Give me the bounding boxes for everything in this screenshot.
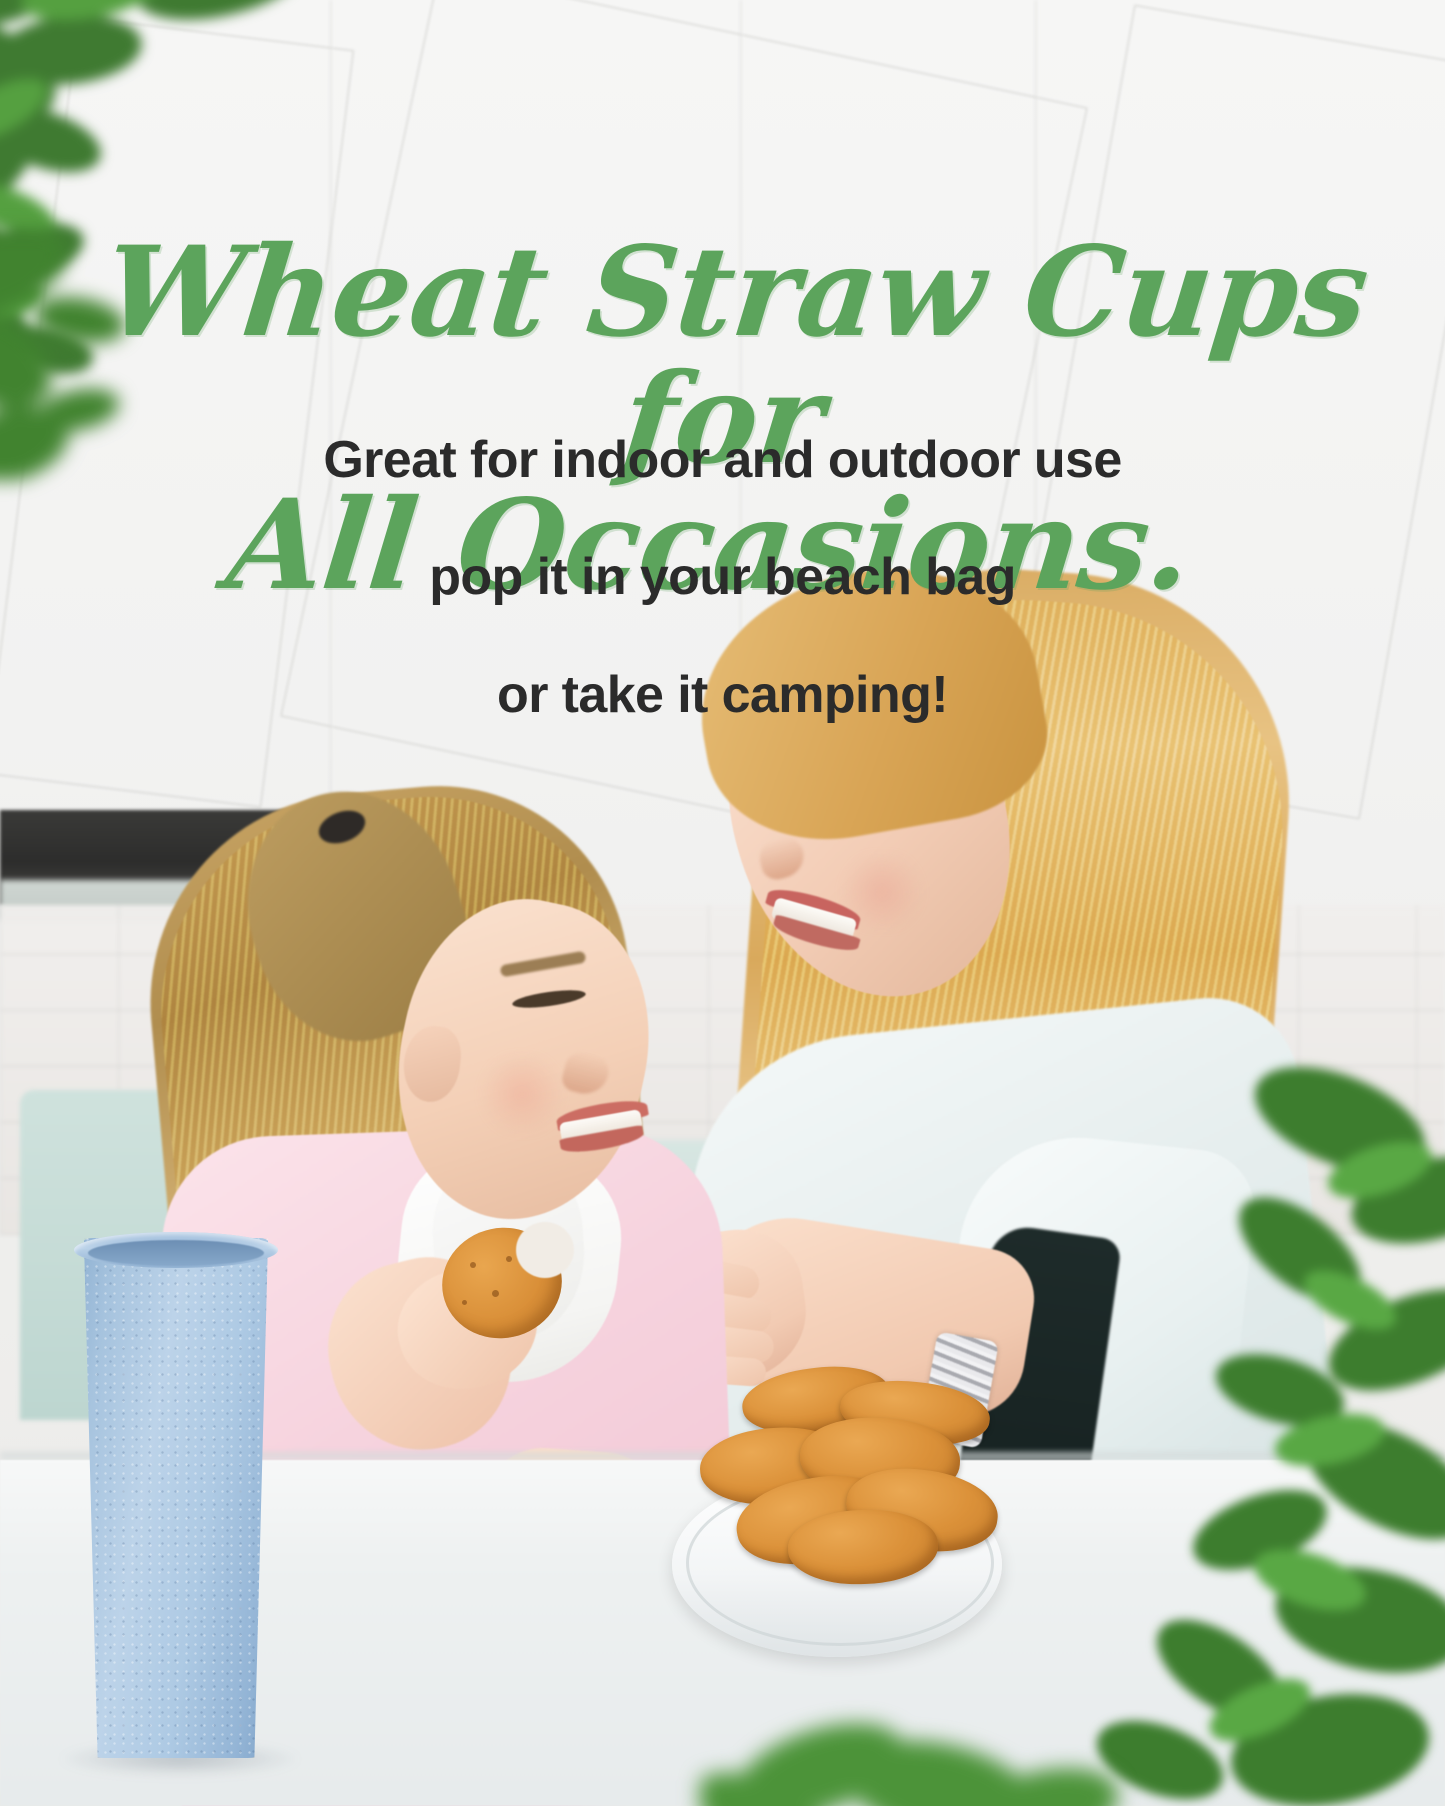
cup-speckle-texture bbox=[78, 1238, 274, 1758]
cookie-speck bbox=[492, 1290, 499, 1297]
subhead-line-2: pop it in your beach bag bbox=[429, 548, 1016, 606]
cookie-speck bbox=[462, 1300, 467, 1305]
cookie-speck bbox=[506, 1256, 512, 1262]
page-subtitle: Great for indoor and outdoor use pop it … bbox=[0, 372, 1445, 725]
subhead-line-1: Great for indoor and outdoor use bbox=[323, 431, 1121, 489]
cookie-speck bbox=[470, 1262, 476, 1268]
girl-cheek-blush bbox=[476, 1056, 568, 1132]
foliage-bottom-center bbox=[700, 1600, 1120, 1806]
cookie-bite-mark bbox=[516, 1222, 574, 1278]
cup-interior bbox=[88, 1240, 264, 1266]
poster-canvas: Wheat Straw Cups for All Occasions. Grea… bbox=[0, 0, 1445, 1806]
subhead-line-3: or take it camping! bbox=[497, 666, 948, 724]
